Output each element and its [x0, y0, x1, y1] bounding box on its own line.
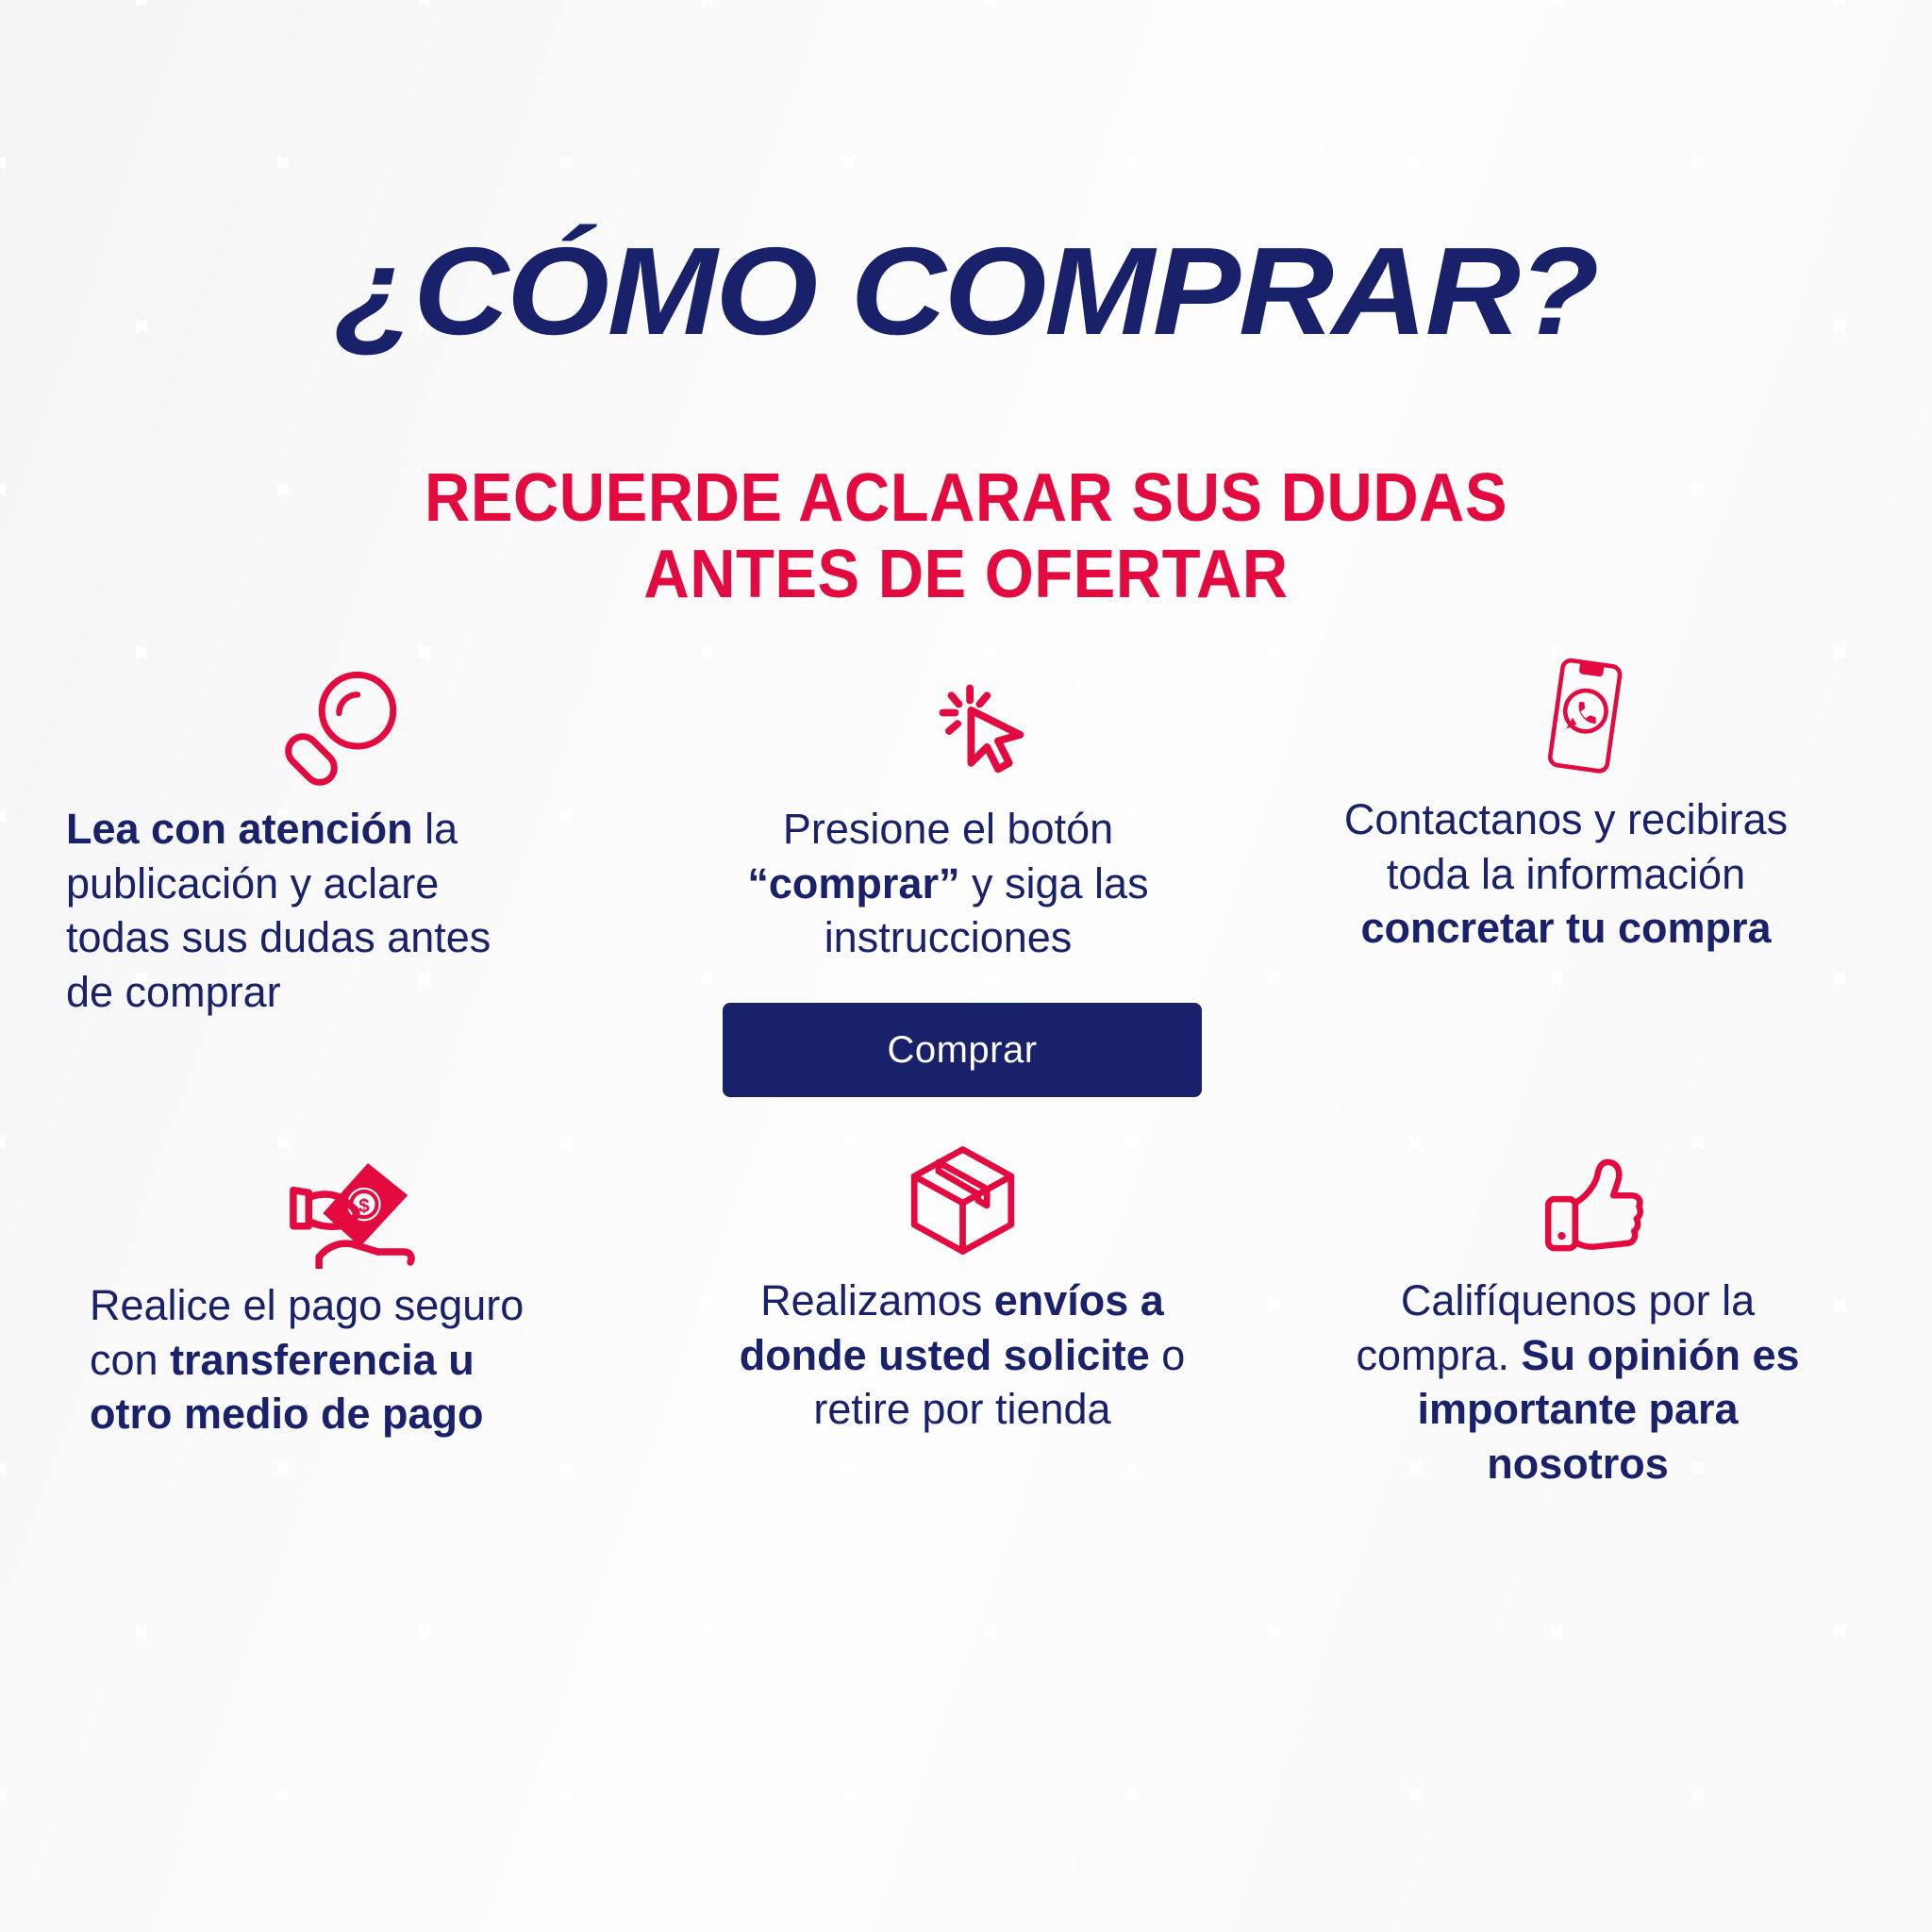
icon-container	[66, 660, 509, 792]
card-rate-us: Califíquenos por la compra. Su opinión e…	[1321, 1132, 1835, 1491]
subtitle-line-1: RECUERDE ACLARAR SUS DUDAS	[425, 460, 1507, 536]
money-hands-icon: $	[283, 1146, 425, 1269]
icon-container	[1321, 1132, 1835, 1264]
page-subtitle: RECUERDE ACLARAR SUS DUDAS ANTES DE OFER…	[68, 460, 1865, 612]
magnifier-icon	[278, 660, 410, 792]
card-rate-text: Califíquenos por la compra. Su opinión e…	[1321, 1274, 1835, 1491]
card-contact-bold: concretar tu compra	[1360, 904, 1771, 952]
subtitle-line-2: ANTES DE OFERTAR	[68, 537, 1865, 613]
card-read-carefully: Lea con atención la publicación y aclare…	[66, 660, 509, 1019]
card-read-text: Lea con atención la publicación y aclare…	[66, 802, 509, 1019]
page-title: ¿CÓMO COMPRAR?	[0, 229, 1932, 354]
package-box-icon	[899, 1137, 1026, 1264]
card-press-buy-button: Presione el botón “comprar” y siga las i…	[679, 660, 1217, 965]
whatsapp-phone-icon	[1524, 651, 1646, 783]
card-press-bold: “comprar”	[747, 859, 959, 908]
card-ship-text: Realizamos envíos a donde usted solicite…	[698, 1274, 1226, 1437]
icon-container	[1302, 651, 1830, 783]
card-contact-text: Contactanos y recibiras toda la informac…	[1302, 792, 1830, 956]
card-read-bold: Lea con atención	[66, 805, 413, 853]
icon-container	[698, 1132, 1226, 1264]
card-ship-pre: Realizamos	[760, 1276, 994, 1324]
card-pay-text: Realice el pago seguro con transferencia…	[90, 1278, 542, 1441]
click-cursor-icon	[924, 670, 1047, 792]
card-press-pre: Presione el botón	[783, 805, 1113, 853]
icon-container	[679, 660, 1217, 792]
svg-text:$: $	[358, 1195, 370, 1217]
thumbs-up-icon	[1531, 1141, 1654, 1264]
card-press-text: Presione el botón “comprar” y siga las i…	[679, 802, 1217, 965]
icon-container: $	[90, 1137, 542, 1269]
comprar-button[interactable]: Comprar	[723, 1003, 1202, 1097]
card-shipping: Realizamos envíos a donde usted solicite…	[698, 1132, 1226, 1437]
card-secure-payment: $ Realice el pago seguro con transferenc…	[90, 1137, 542, 1441]
card-contact-us: Contactanos y recibiras toda la informac…	[1302, 651, 1830, 956]
card-contact-pre: Contactanos y recibiras toda la informac…	[1344, 795, 1788, 898]
